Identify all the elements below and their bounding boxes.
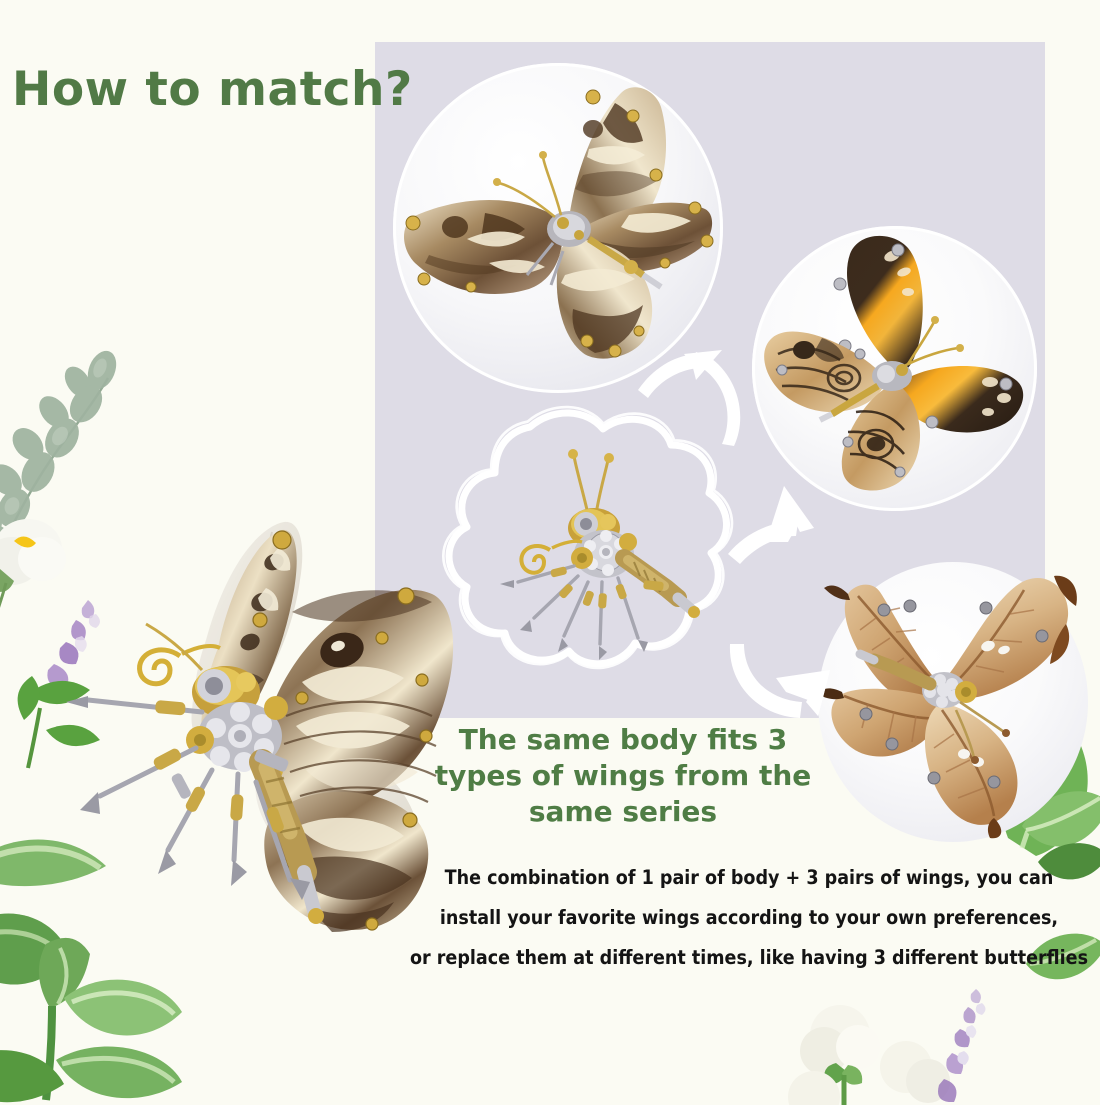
butterfly-body-core-figure <box>478 432 708 662</box>
description-line-3: or replace them at different times, like… <box>398 938 1100 978</box>
arrow-2-icon <box>728 462 868 572</box>
callout-line-1: The same body fits 3 <box>459 723 788 756</box>
callout-heading: The same body fits 3 types of wings from… <box>428 722 818 829</box>
poster-canvas: How to match? The same body fits 3 types… <box>0 0 1100 1100</box>
arrow-3-icon <box>726 630 866 730</box>
lavender-bottom-right-icon <box>930 985 1040 1105</box>
description-paragraph: The combination of 1 pair of body + 3 pa… <box>398 858 1100 978</box>
description-line-1: The combination of 1 pair of body + 3 pa… <box>398 858 1100 898</box>
description-line-2: install your favorite wings according to… <box>398 898 1100 938</box>
callout-line-2: types of wings from <box>435 759 750 792</box>
arrow-1-icon <box>626 336 746 446</box>
page-title: How to match? <box>12 62 372 117</box>
